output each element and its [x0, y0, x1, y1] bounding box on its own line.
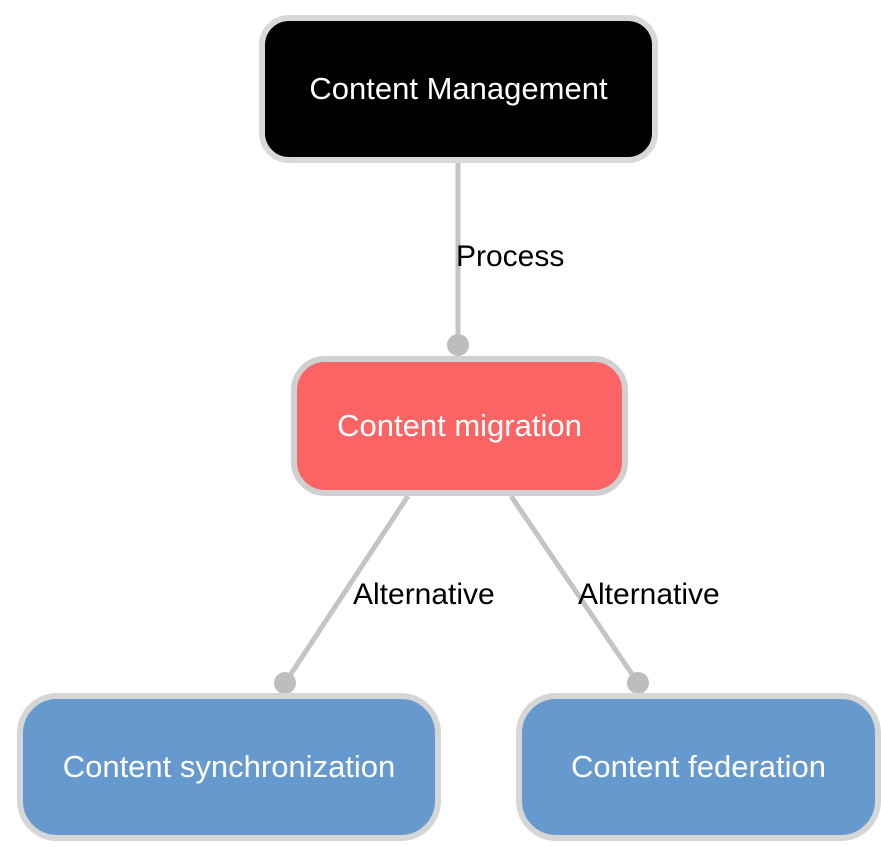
node-content-synchronization[interactable]: Content synchronization — [17, 693, 441, 841]
edge-label-alternative-left: Alternative — [353, 580, 495, 610]
node-content-management[interactable]: Content Management — [259, 15, 658, 163]
node-content-migration[interactable]: Content migration — [291, 356, 628, 496]
edge-endpoint-dot-alternative-right — [627, 672, 649, 694]
edge-endpoint-dot-process — [447, 334, 469, 356]
edge-label-process: Process — [456, 242, 564, 272]
edge-endpoint-dot-alternative-left — [274, 672, 296, 694]
concept-map-canvas: Content Management Content migration Con… — [0, 0, 881, 858]
node-label-content-federation: Content federation — [571, 750, 826, 784]
edge-label-alternative-right: Alternative — [578, 580, 720, 610]
node-label-content-synchronization: Content synchronization — [63, 750, 396, 784]
node-content-federation[interactable]: Content federation — [516, 693, 881, 841]
node-label-content-migration: Content migration — [337, 409, 582, 443]
node-label-content-management: Content Management — [309, 72, 607, 106]
